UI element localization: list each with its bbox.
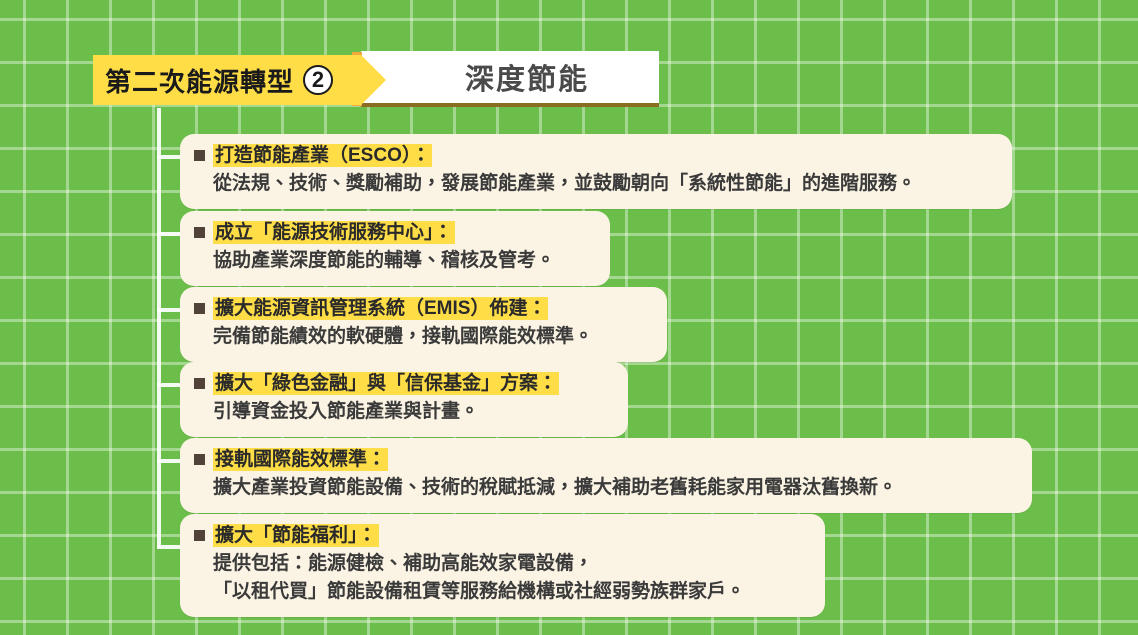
measure-card[interactable]: 成立「能源技術服務中心」： 協助產業深度節能的輔導、稽核及管考。 xyxy=(180,211,610,286)
measure-card-line: 「以租代買」節能設備租賃等服務給機構或社經弱勢族群家戶。 xyxy=(213,579,807,606)
measure-card-body: 成立「能源技術服務中心」： 協助產業深度節能的輔導、稽核及管考。 xyxy=(213,220,592,275)
bullet-square-icon xyxy=(194,303,205,314)
measure-card-title: 打造節能產業（ESCO）： xyxy=(213,144,432,167)
tree-spine xyxy=(157,108,161,548)
header-banner: 第二次能源轉型 2 xyxy=(93,55,361,105)
bullet-square-icon xyxy=(194,378,205,389)
measure-card-body: 擴大「節能福利」： 提供包括：能源健檢、補助高能效家電設備， 「以租代買」節能設… xyxy=(213,523,807,606)
measure-card-title: 成立「能源技術服務中心」： xyxy=(213,221,455,244)
measure-card-line: 完備節能績效的軟硬體，接軌國際能效標準。 xyxy=(213,324,649,351)
measure-card-body: 接軌國際能效標準： 擴大產業投資節能設備、技術的稅賦抵減，擴大補助老舊耗能家用電… xyxy=(213,447,1014,502)
measure-card-title: 擴大「節能福利」： xyxy=(213,524,379,547)
measure-card-title: 接軌國際能效標準： xyxy=(213,448,388,471)
measure-card-line: 從法規、技術、獎勵補助，發展節能產業，並鼓勵朝向「系統性節能」的進階服務。 xyxy=(213,171,994,198)
header-banner-label: 第二次能源轉型 xyxy=(105,62,294,99)
bullet-square-icon xyxy=(194,150,205,161)
measure-card-body: 擴大「綠色金融」與「信保基金」方案： 引導資金投入節能產業與計畫。 xyxy=(213,371,610,426)
measure-card[interactable]: 擴大「綠色金融」與「信保基金」方案： 引導資金投入節能產業與計畫。 xyxy=(180,362,628,437)
header-arrow-icon xyxy=(361,55,386,105)
measure-card[interactable]: 打造節能產業（ESCO）： 從法規、技術、獎勵補助，發展節能產業，並鼓勵朝向「系… xyxy=(180,134,1012,209)
measure-card-line: 引導資金投入節能產業與計畫。 xyxy=(213,399,610,426)
header-title: 深度節能 xyxy=(431,56,589,98)
measure-card[interactable]: 擴大能源資訊管理系統（EMIS）佈建： 完備節能績效的軟硬體，接軌國際能效標準。 xyxy=(180,287,667,362)
header-badge-number: 2 xyxy=(303,65,333,95)
measure-card-body: 擴大能源資訊管理系統（EMIS）佈建： 完備節能績效的軟硬體，接軌國際能效標準。 xyxy=(213,296,649,351)
measure-card-title: 擴大「綠色金融」與「信保基金」方案： xyxy=(213,372,559,395)
measure-card[interactable]: 擴大「節能福利」： 提供包括：能源健檢、補助高能效家電設備， 「以租代買」節能設… xyxy=(180,514,825,617)
measure-card-line: 協助產業深度節能的輔導、稽核及管考。 xyxy=(213,248,592,275)
bullet-square-icon xyxy=(194,530,205,541)
measure-card-line: 擴大產業投資節能設備、技術的稅賦抵減，擴大補助老舊耗能家用電器汰舊換新。 xyxy=(213,475,1014,502)
measure-card-body: 打造節能產業（ESCO）： 從法規、技術、獎勵補助，發展節能產業，並鼓勵朝向「系… xyxy=(213,143,994,198)
bullet-square-icon xyxy=(194,227,205,238)
infographic-canvas: 深度節能 第二次能源轉型 2 打造節能產業（ESCO）： 從法規、技術、獎勵補助… xyxy=(0,0,1138,635)
measure-card[interactable]: 接軌國際能效標準： 擴大產業投資節能設備、技術的稅賦抵減，擴大補助老舊耗能家用電… xyxy=(180,438,1032,513)
header-title-box: 深度節能 xyxy=(361,51,659,107)
bullet-square-icon xyxy=(194,454,205,465)
measure-card-line: 提供包括：能源健檢、補助高能效家電設備， xyxy=(213,551,807,578)
measure-card-title: 擴大能源資訊管理系統（EMIS）佈建： xyxy=(213,297,548,320)
